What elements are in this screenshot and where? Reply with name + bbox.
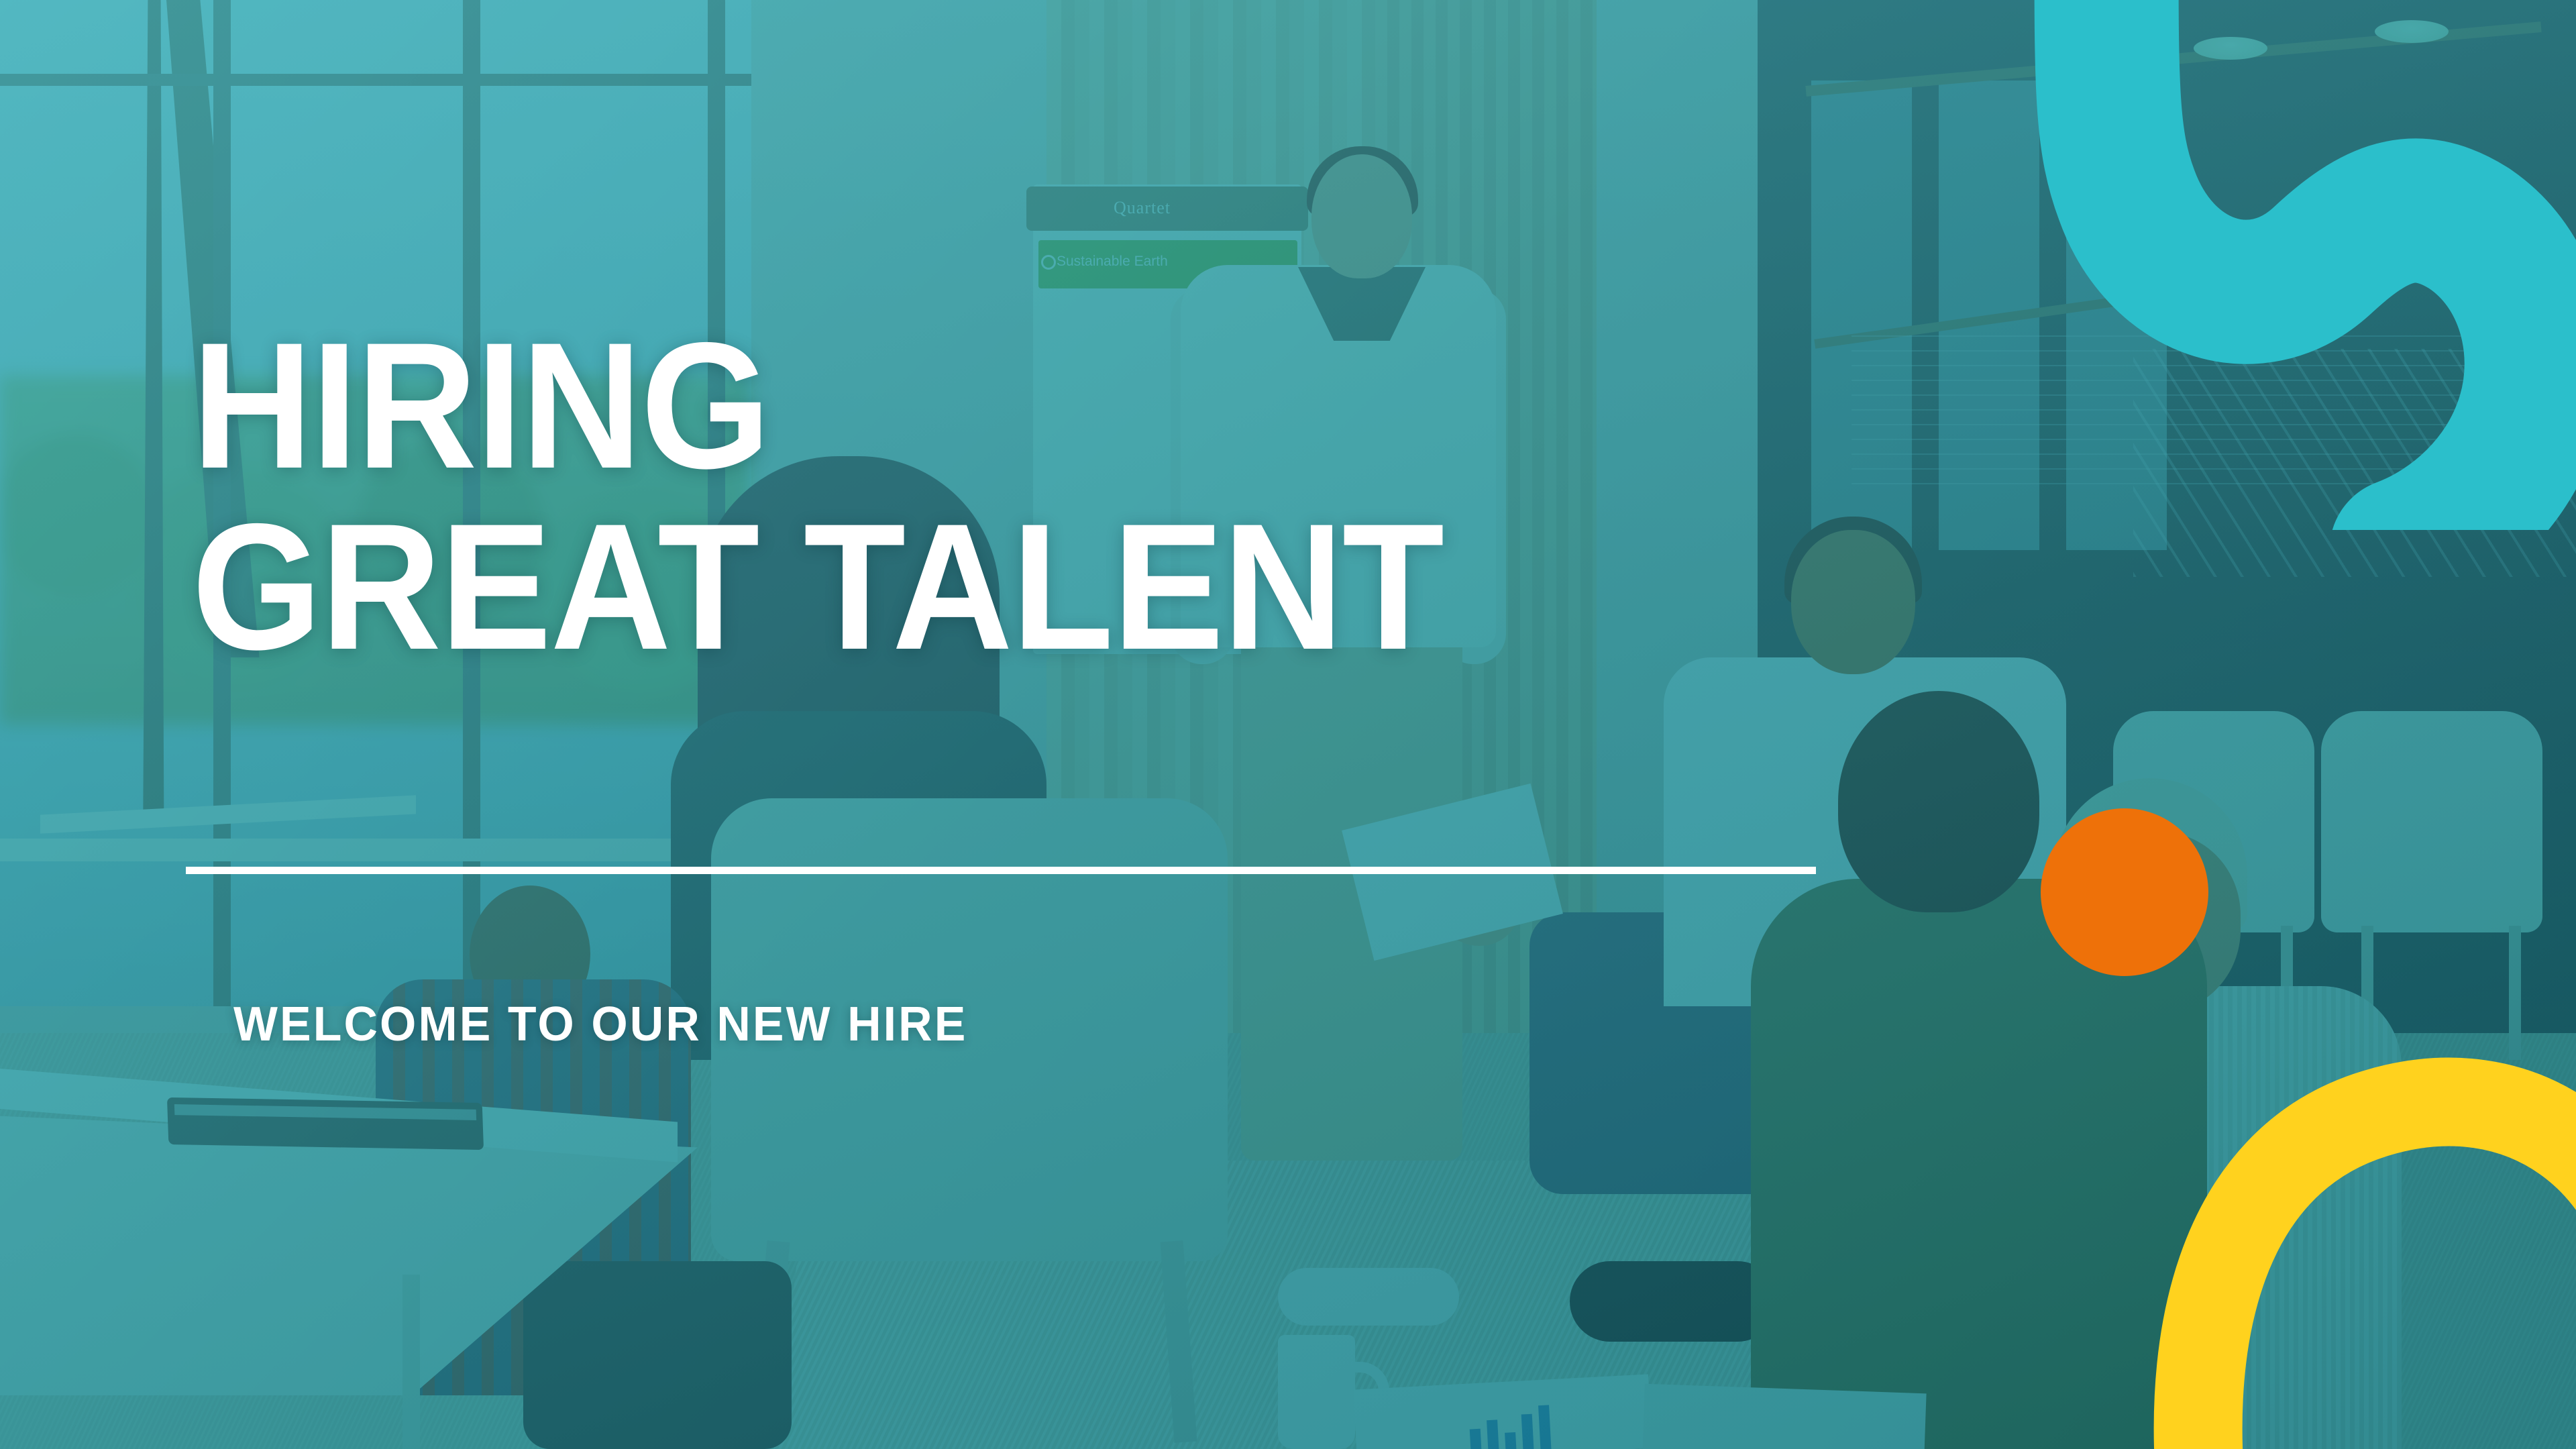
text-block: HIRING GREAT TALENT WELCOME TO OUR NEW H… [0,0,2576,1449]
hiring-poster: Quartet Sustainable Earth [0,0,2576,1449]
headline-line-2: GREAT TALENT [192,496,1443,676]
subtitle: WELCOME TO OUR NEW HIRE [233,997,967,1052]
divider-rule [186,867,1816,874]
headline-line-1: HIRING [192,315,769,495]
